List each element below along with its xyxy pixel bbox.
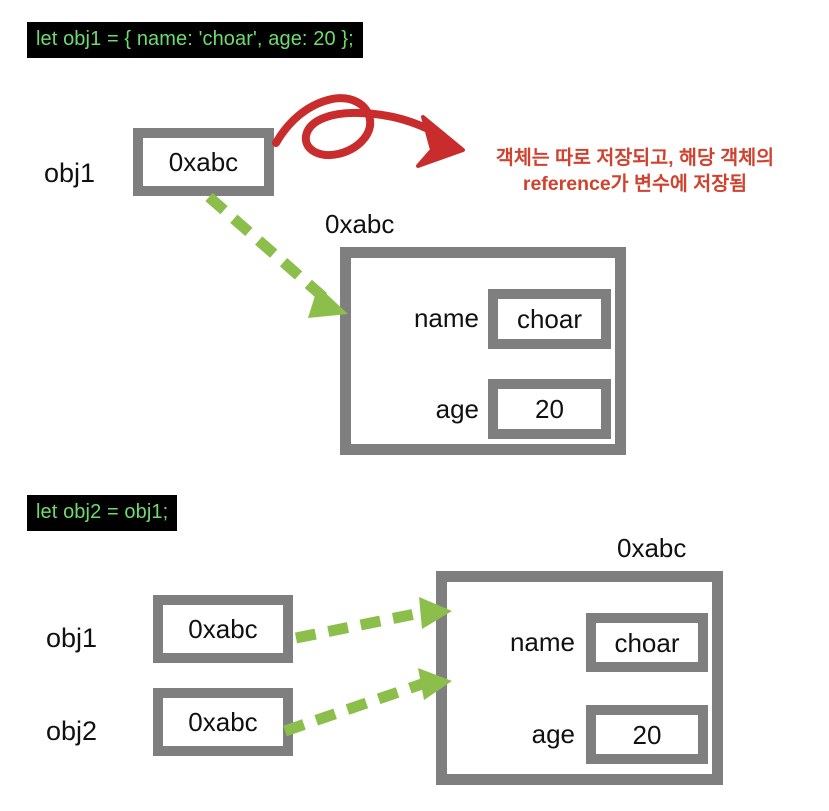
variable-label-obj1-top: obj1 [44,160,95,187]
annotation-text: 객체는 따로 저장되고, 해당 객체의 reference가 변수에 저장됨 [455,145,815,198]
field-value-box-age-bottom: 20 [586,705,708,764]
field-value-box-name-bottom: choar [586,613,708,672]
field-value-box-name-top: choar [488,289,611,349]
dashed-arrow-icon-obj2-bottom [285,668,452,731]
field-label-name-bottom: name [489,629,575,655]
field-value-name-top: choar [498,306,601,332]
object-address-caption-bottom: 0xabc [617,535,686,561]
variable-box-obj2-bottom: 0xabc [153,688,293,756]
field-label-age-bottom: age [489,721,575,747]
field-value-age-top: 20 [498,396,601,422]
variable-label-obj1-bottom: obj1 [46,625,97,652]
variable-box-obj2-bottom-value: 0xabc [163,709,283,735]
object-box-top: name choar age 20 [340,247,626,455]
annotation-line-1: 객체는 따로 저장되고, 해당 객체의 [455,145,815,171]
dashed-arrow-icon-obj1-bottom [296,597,452,638]
annotation-line-2: reference가 변수에 저장됨 [455,171,815,197]
curved-arrow-icon [276,98,463,166]
field-value-age-bottom: 20 [596,722,698,748]
field-label-name-top: name [395,305,479,331]
object-box-bottom: name choar age 20 [436,571,723,785]
field-value-name-bottom: choar [596,630,698,656]
object-address-caption-top: 0xabc [325,211,394,237]
code-banner-assignment: let obj2 = obj1; [27,495,177,531]
field-label-age-top: age [395,396,479,422]
variable-box-obj1-bottom-value: 0xabc [163,616,283,642]
code-banner-declaration: let obj1 = { name: 'choar', age: 20 }; [27,22,363,58]
variable-box-obj1-top: 0xabc [133,128,274,196]
variable-label-obj2-bottom: obj2 [46,718,97,745]
variable-box-obj1-bottom: 0xabc [153,595,293,663]
field-value-box-age-top: 20 [488,379,611,439]
variable-box-obj1-top-value: 0xabc [143,149,264,175]
